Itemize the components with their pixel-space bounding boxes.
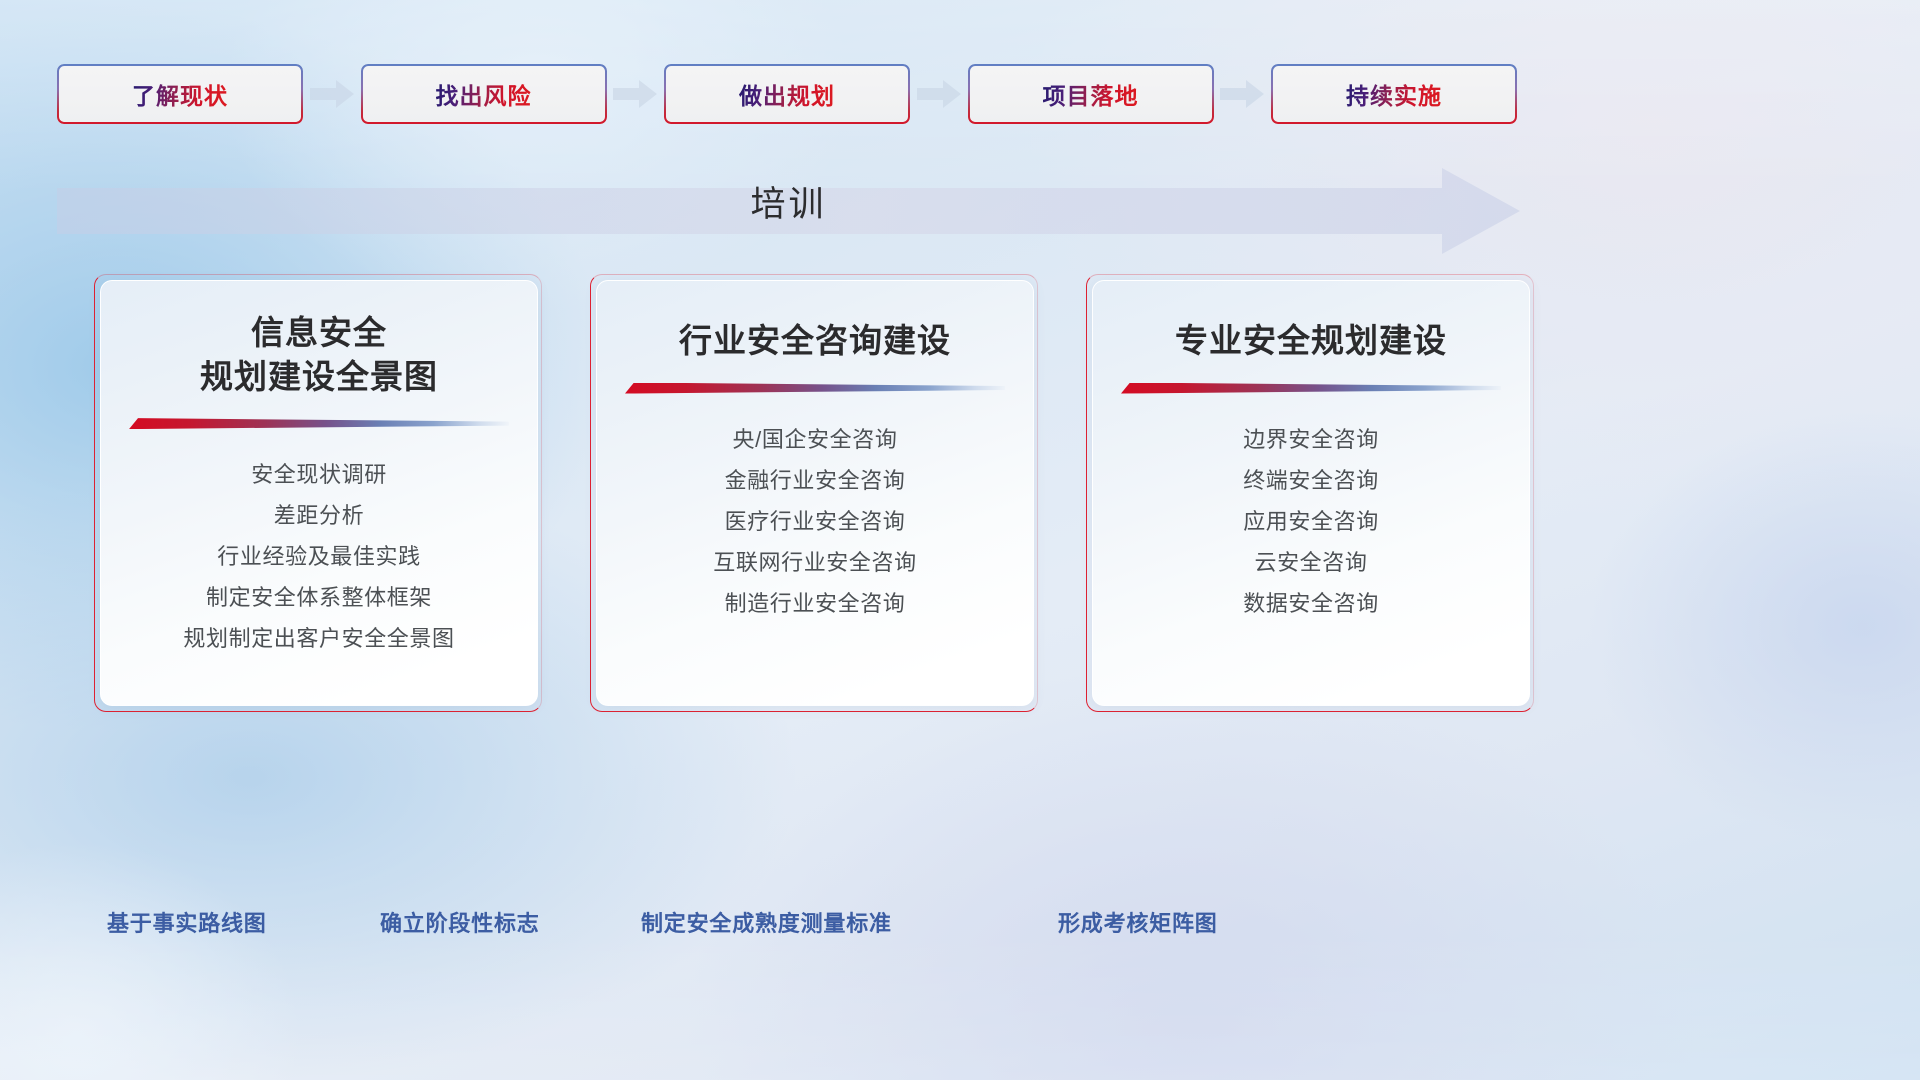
list-item: 医疗行业安全咨询 [725,501,906,542]
arrow-right-icon [910,64,968,124]
card-item-list: 央/国企安全咨询 金融行业安全咨询 医疗行业安全咨询 互联网行业安全咨询 制造行… [597,419,1033,624]
step-label: 找出风险 [436,77,532,111]
card-divider-bar [1121,383,1501,394]
footnote-label: 基于事实路线图 [107,906,267,938]
card-divider [129,414,509,432]
list-item: 云安全咨询 [1254,542,1367,583]
footnote-row: 基于事实路线图 确立阶段性标志 制定安全成熟度测量标准 形成考核矩阵图 [0,906,1920,950]
footnote-label: 形成考核矩阵图 [1058,906,1218,938]
card-divider [625,379,1005,397]
list-item: 规划制定出客户安全全景图 [183,618,454,659]
card-item-list: 边界安全咨询 终端安全咨询 应用安全咨询 云安全咨询 数据安全咨询 [1093,419,1529,624]
arrow-right-icon [607,64,665,124]
list-item: 央/国企安全咨询 [733,419,898,460]
list-item: 应用安全咨询 [1243,501,1379,542]
card-divider [1121,379,1501,397]
card-professional-security-planning[interactable]: 专业安全规划建设 边界安全咨询 终端安全咨询 应用安全咨询 云安全咨询 数据安全… [1092,280,1530,706]
step-box-5[interactable]: 持续实施 [1271,64,1517,124]
card-title-line: 行业安全咨询建设 [679,319,951,363]
footnote-label: 确立阶段性标志 [380,906,540,938]
card-divider-bar [625,383,1005,394]
list-item: 数据安全咨询 [1243,583,1379,624]
card-2-wrapper: 行业安全咨询建设 央/国企安全咨询 金融行业安全咨询 医疗行业安全咨询 互联网行… [590,274,1038,712]
banner-label: 培训 [57,176,1520,227]
step-label: 了解现状 [132,77,228,111]
list-item: 边界安全咨询 [1243,419,1379,460]
card-title: 信息安全 规划建设全景图 [200,311,438,398]
card-title: 行业安全咨询建设 [679,319,951,363]
list-item: 制造行业安全咨询 [725,583,906,624]
card-divider-bar [129,418,509,429]
list-item: 互联网行业安全咨询 [713,542,916,583]
list-item: 制定安全体系整体框架 [206,577,432,618]
card-title: 专业安全规划建设 [1175,319,1447,363]
list-item: 行业经验及最佳实践 [217,536,420,577]
arrow-right-icon [1214,64,1272,124]
step-box-3[interactable]: 做出规划 [664,64,910,124]
list-item: 终端安全咨询 [1243,460,1379,501]
card-item-list: 安全现状调研 差距分析 行业经验及最佳实践 制定安全体系整体框架 规划制定出客户… [101,454,537,659]
card-row: 信息安全 规划建设全景图 安全现状调研 差距分析 行业经验及最佳实践 制定安全体… [94,274,1534,712]
card-3-wrapper: 专业安全规划建设 边界安全咨询 终端安全咨询 应用安全咨询 云安全咨询 数据安全… [1086,274,1534,712]
arrow-right-icon [303,64,361,124]
step-box-2[interactable]: 找出风险 [361,64,607,124]
step-label: 项目落地 [1043,77,1139,111]
process-step-row: 了解现状 找出风险 做出规划 项目落地 持续实施 [57,64,1517,124]
card-1-wrapper: 信息安全 规划建设全景图 安全现状调研 差距分析 行业经验及最佳实践 制定安全体… [94,274,542,712]
list-item: 金融行业安全咨询 [725,460,906,501]
card-title-line: 信息安全 [200,311,438,355]
list-item: 安全现状调研 [251,454,387,495]
step-label: 持续实施 [1346,77,1442,111]
card-title-line: 规划建设全景图 [200,355,438,399]
step-box-4[interactable]: 项目落地 [968,64,1214,124]
footnote-label: 制定安全成熟度测量标准 [641,906,892,938]
list-item: 差距分析 [274,495,364,536]
card-title-line: 专业安全规划建设 [1175,319,1447,363]
card-industry-security-consulting[interactable]: 行业安全咨询建设 央/国企安全咨询 金融行业安全咨询 医疗行业安全咨询 互联网行… [596,280,1034,706]
card-information-security-blueprint[interactable]: 信息安全 规划建设全景图 安全现状调研 差距分析 行业经验及最佳实践 制定安全体… [100,280,538,706]
step-box-1[interactable]: 了解现状 [57,64,303,124]
step-label: 做出规划 [739,77,835,111]
training-banner: 培训 [57,168,1520,254]
